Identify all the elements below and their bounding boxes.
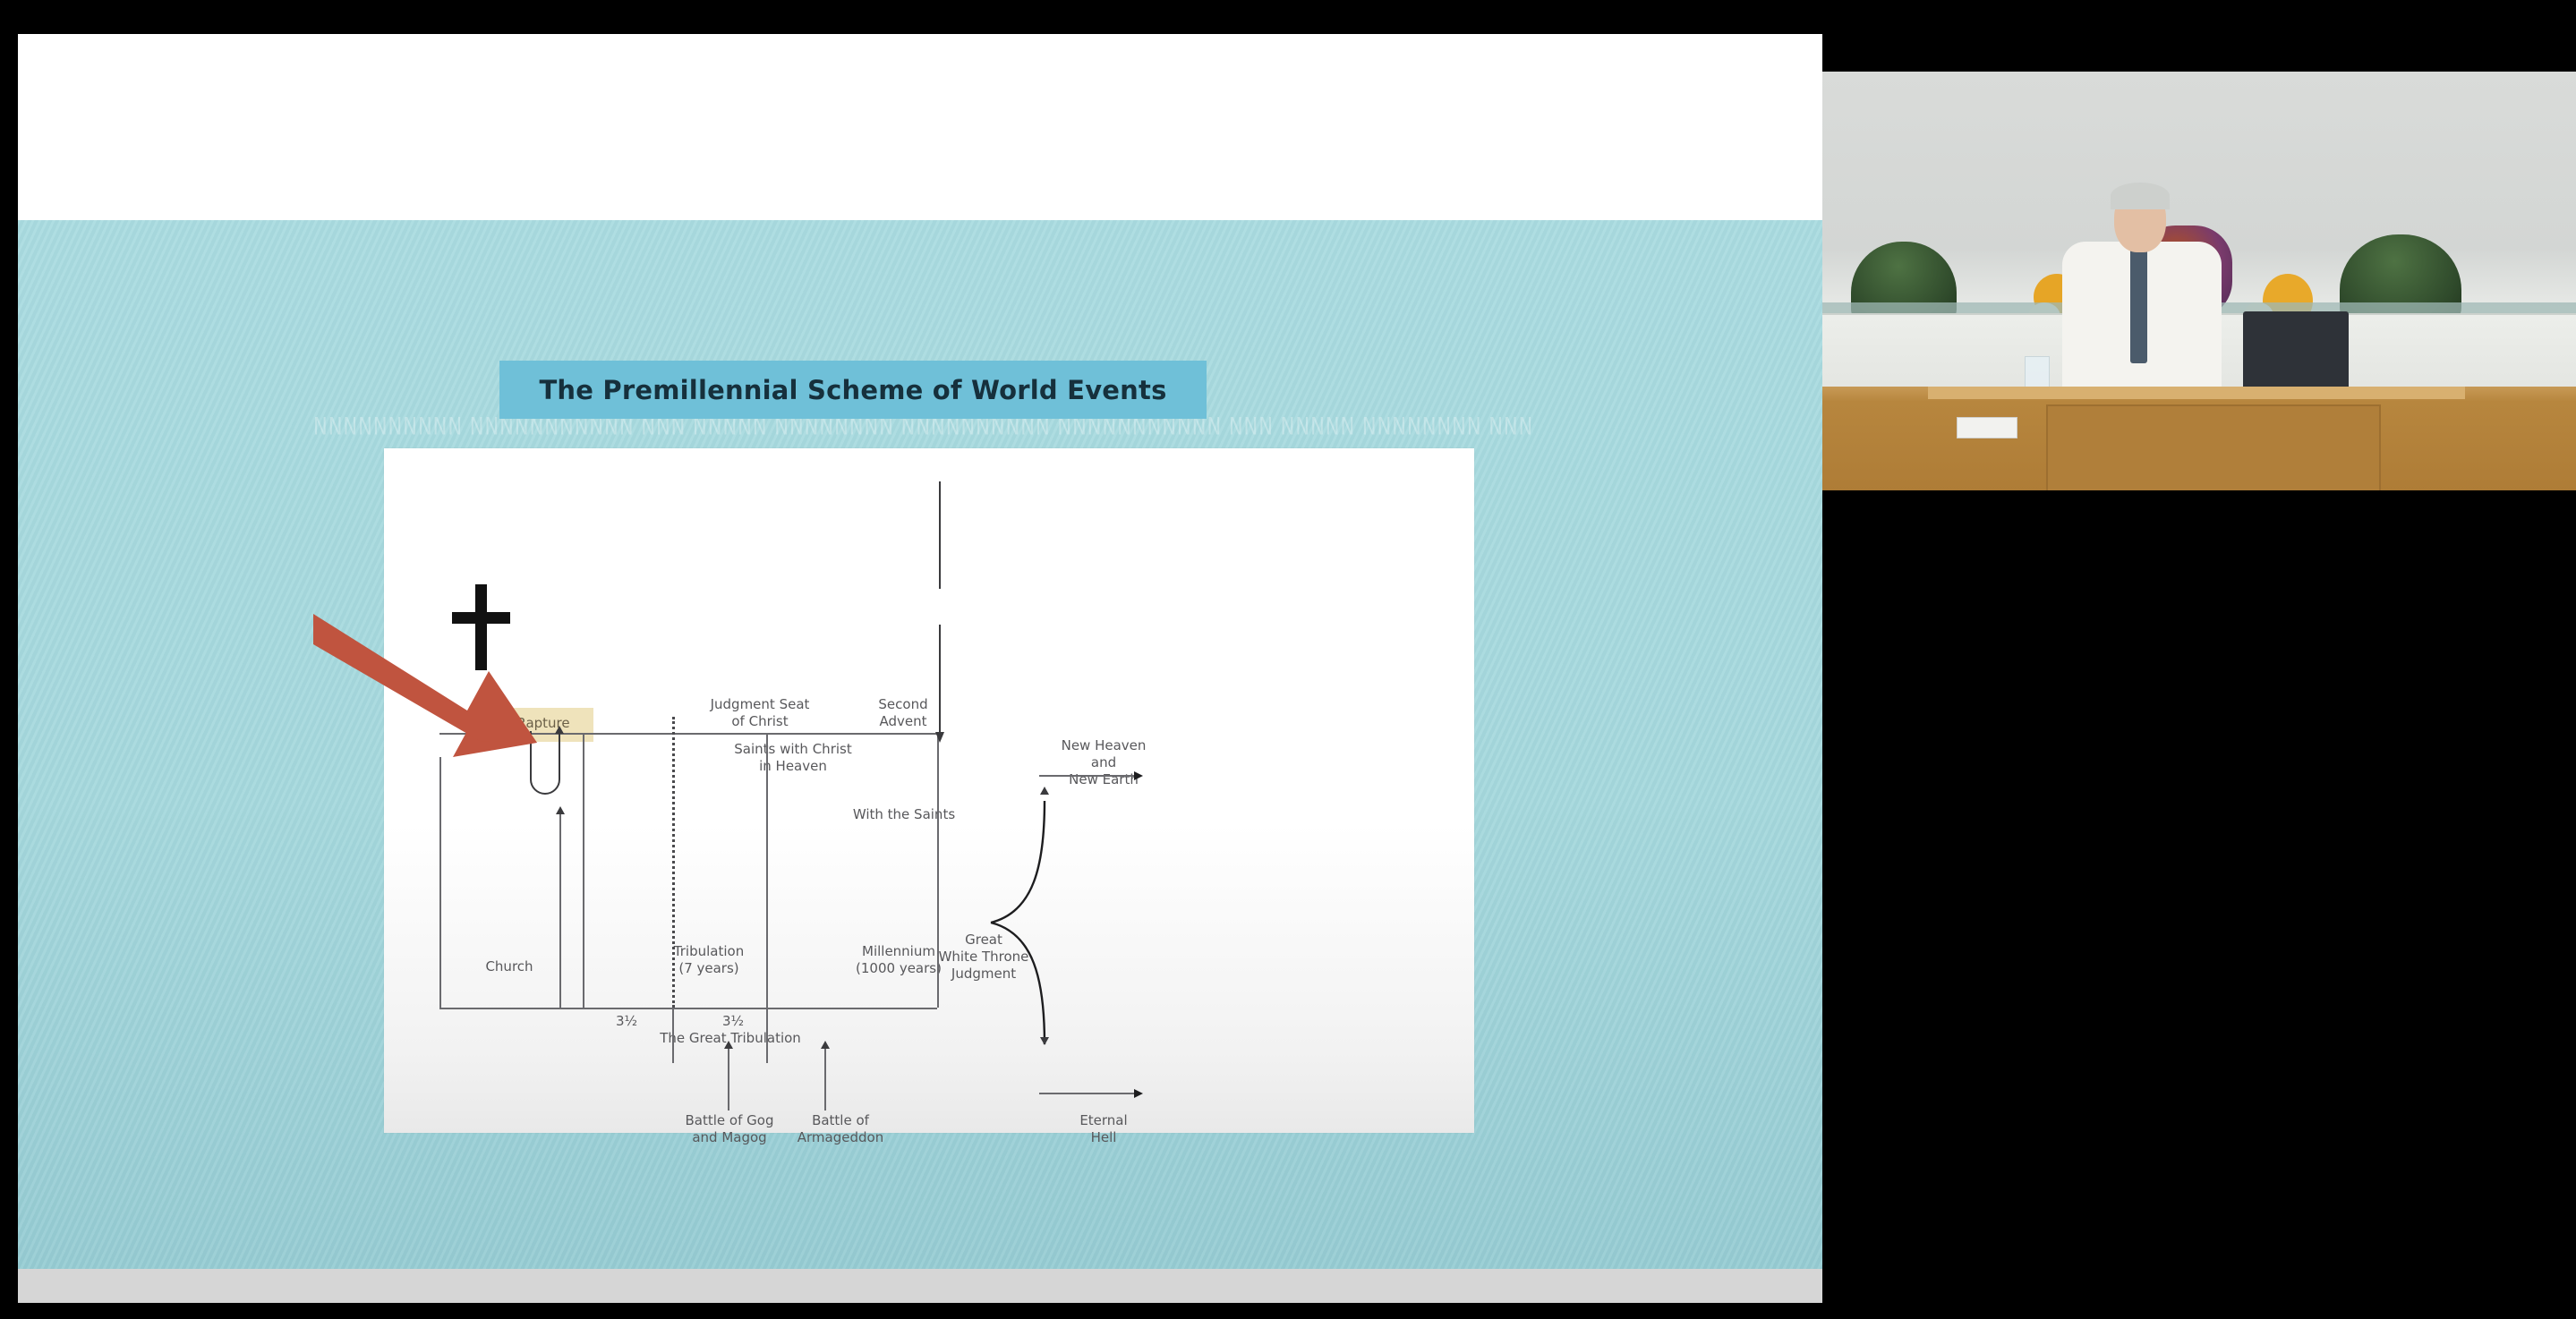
great-tribulation-tick-left (672, 1008, 674, 1063)
empty-black-area (1822, 490, 2576, 1319)
timeline-top-rail (439, 733, 937, 735)
label-battle-of-armageddon: Battle of Armageddon (760, 1112, 921, 1146)
timeline-bottom-rail (439, 1008, 937, 1009)
page-title: The Premillennial Scheme of World Events (539, 375, 1166, 405)
rapture-riser-arrowhead (556, 806, 565, 814)
label-rapture: Rapture (493, 715, 593, 732)
speaker-video-feed[interactable] (1822, 34, 2576, 490)
great-tribulation-tick-right (766, 1008, 768, 1063)
label-three-and-half-right: 3½ (711, 1013, 755, 1030)
eternal-hell-arrow-line (1039, 1093, 1136, 1094)
label-judgment-seat-of-christ: Judgment Seat of Christ (679, 696, 840, 730)
new-heaven-arrow-line (1039, 775, 1136, 777)
church-right-divider (583, 733, 584, 1008)
battle-gog-arrowhead (724, 1041, 733, 1049)
great-white-throne-up-arrowhead (1040, 787, 1049, 795)
label-new-heaven-new-earth: New Heaven and New Earth (1023, 737, 1184, 789)
label-church: Church (456, 958, 563, 975)
battle-armageddon-arrow-line (824, 1048, 826, 1111)
eternal-hell-arrowhead (1134, 1089, 1143, 1098)
pulpit-front-panel (2046, 404, 2381, 490)
screen-capture: NNNNNNNNNN NNNNNNNNNNN NNN NNNNN NNNNNNN… (0, 0, 2576, 1319)
laptop-on-pulpit (2243, 311, 2349, 388)
video-frame-content (1822, 72, 2576, 456)
presentation-slide[interactable]: NNNNNNNNNN NNNNNNNNNNN NNN NNNNN NNNNNNN… (18, 34, 1822, 1303)
slide-bottom-gray-band (18, 1269, 1822, 1303)
speaker-tie (2130, 249, 2147, 363)
rapture-loop-arrowhead (555, 726, 564, 734)
second-advent-arrow-group (931, 481, 967, 768)
new-heaven-arrowhead (1134, 771, 1143, 780)
rapture-riser-line (559, 813, 561, 1008)
slide-title-band: The Premillennial Scheme of World Events (499, 361, 1207, 419)
great-white-throne-down-arrowhead (1040, 1037, 1049, 1045)
label-tribulation: Tribulation (7 years) (633, 943, 785, 977)
cross-icon-bar (452, 612, 510, 624)
label-millennium: Millennium (1000 years) (814, 943, 984, 977)
label-saints-with-christ: Saints with Christ in Heaven (699, 741, 887, 775)
mid-tribulation-dotted-divider (672, 717, 675, 1008)
tribulation-right-divider (766, 733, 768, 1008)
pulpit-top-edge (1928, 387, 2465, 399)
speaker-hair (2111, 183, 2170, 209)
label-eternal-hell: Eternal Hell (1023, 1112, 1184, 1146)
diagram-panel: Rapture Judgment Seat of Christ Second A… (384, 448, 1474, 1133)
battle-armageddon-arrowhead (821, 1041, 830, 1049)
millennium-right-divider (937, 733, 939, 1008)
book-on-pulpit (1957, 417, 2017, 438)
slide-top-white-band (18, 34, 1822, 220)
great-white-throne-split-curve (985, 788, 1093, 1075)
battle-gog-arrow-line (728, 1048, 729, 1111)
cross-icon (475, 584, 487, 670)
church-left-divider (439, 757, 441, 1008)
label-with-the-saints: With the Saints (837, 806, 971, 823)
rapture-loop-arrow (525, 733, 579, 804)
label-three-and-half-left: 3½ (604, 1013, 649, 1030)
